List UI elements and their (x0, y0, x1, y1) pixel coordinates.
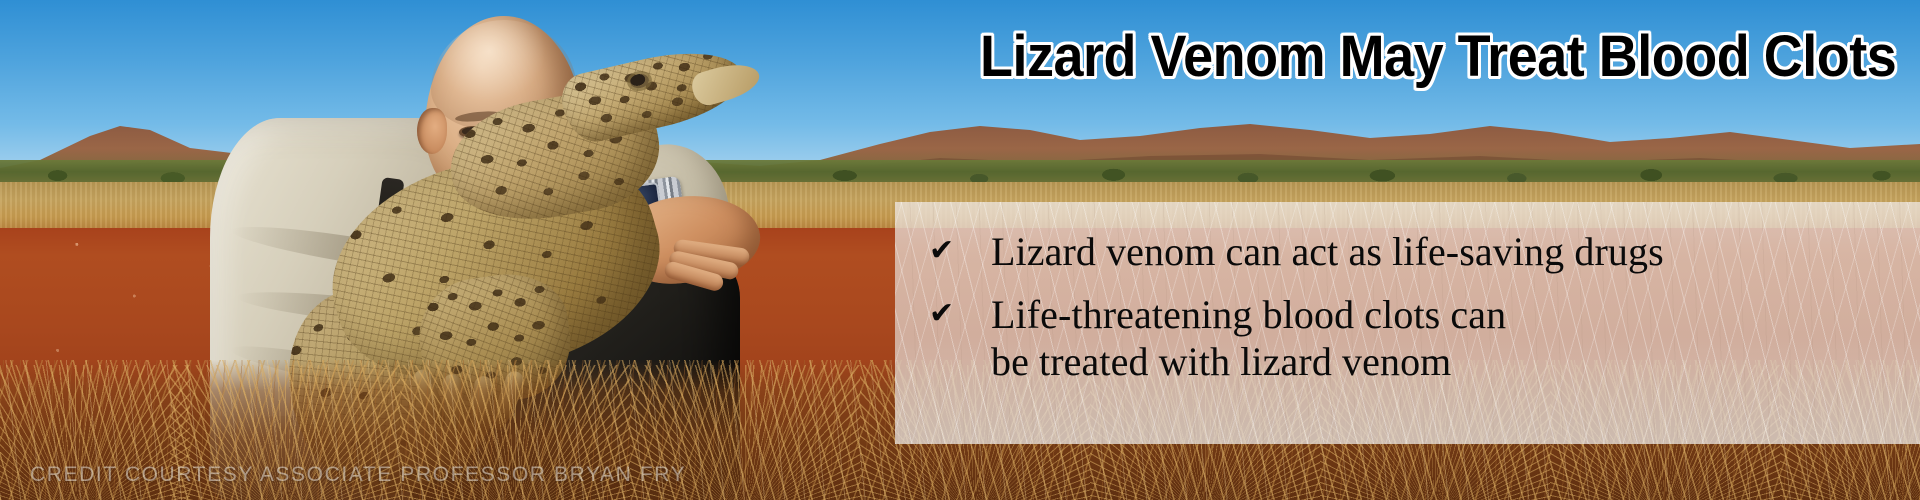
bullet-text: Life-threatening blood clots can be trea… (991, 291, 1506, 385)
list-item: ✔ Lizard venom can act as life-saving dr… (929, 228, 1900, 275)
check-mark-icon: ✔ (929, 228, 991, 274)
bullet-text: Lizard venom can act as life-saving drug… (991, 228, 1664, 275)
bullet-line: be treated with lizard venom (991, 338, 1506, 385)
banner-image: Lizard Venom May Treat Blood Clots ✔ Liz… (0, 0, 1920, 500)
bullet-list: ✔ Lizard venom can act as life-saving dr… (929, 228, 1900, 385)
list-item: ✔ Life-threatening blood clots can be tr… (929, 291, 1900, 385)
key-points-panel: ✔ Lizard venom can act as life-saving dr… (895, 202, 1920, 444)
bullet-line: Lizard venom can act as life-saving drug… (991, 229, 1664, 274)
bullet-line: Life-threatening blood clots can (991, 292, 1506, 337)
check-mark-icon: ✔ (929, 291, 991, 337)
page-title: Lizard Venom May Treat Blood Clots (980, 27, 1896, 87)
photo-credit: CREDIT COURTESY ASSOCIATE PROFESSOR BRYA… (30, 463, 686, 487)
